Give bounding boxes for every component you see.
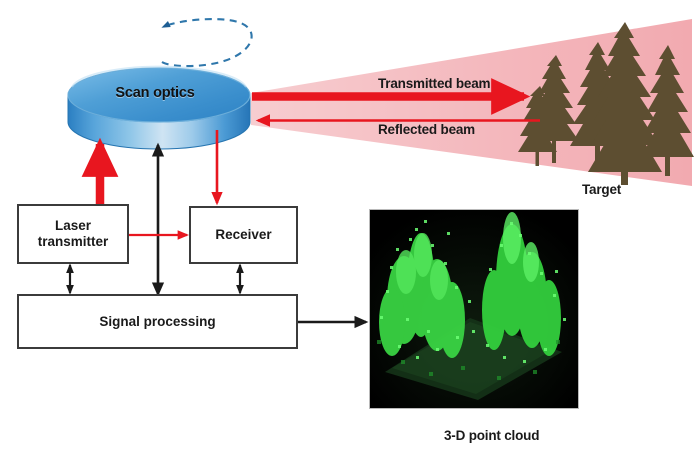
scan-optics-disc — [68, 67, 250, 149]
lidar-diagram — [0, 0, 700, 453]
laser-transmitter-box — [18, 205, 128, 263]
target-label: Target — [582, 182, 621, 197]
receiver-box — [190, 207, 297, 263]
scan-optics-label: Scan optics — [95, 85, 215, 101]
reflected-beam-label: Reflected beam — [378, 122, 475, 137]
signal-processing-box — [18, 295, 297, 348]
transmitted-beam-label: Transmitted beam — [378, 76, 490, 91]
point-cloud-image — [369, 209, 579, 409]
scan-rotation-arrow — [162, 19, 252, 66]
figure-canvas: Scan optics Transmitted beam Reflected b… — [0, 0, 700, 453]
point-cloud-caption: 3-D point cloud — [444, 428, 539, 443]
